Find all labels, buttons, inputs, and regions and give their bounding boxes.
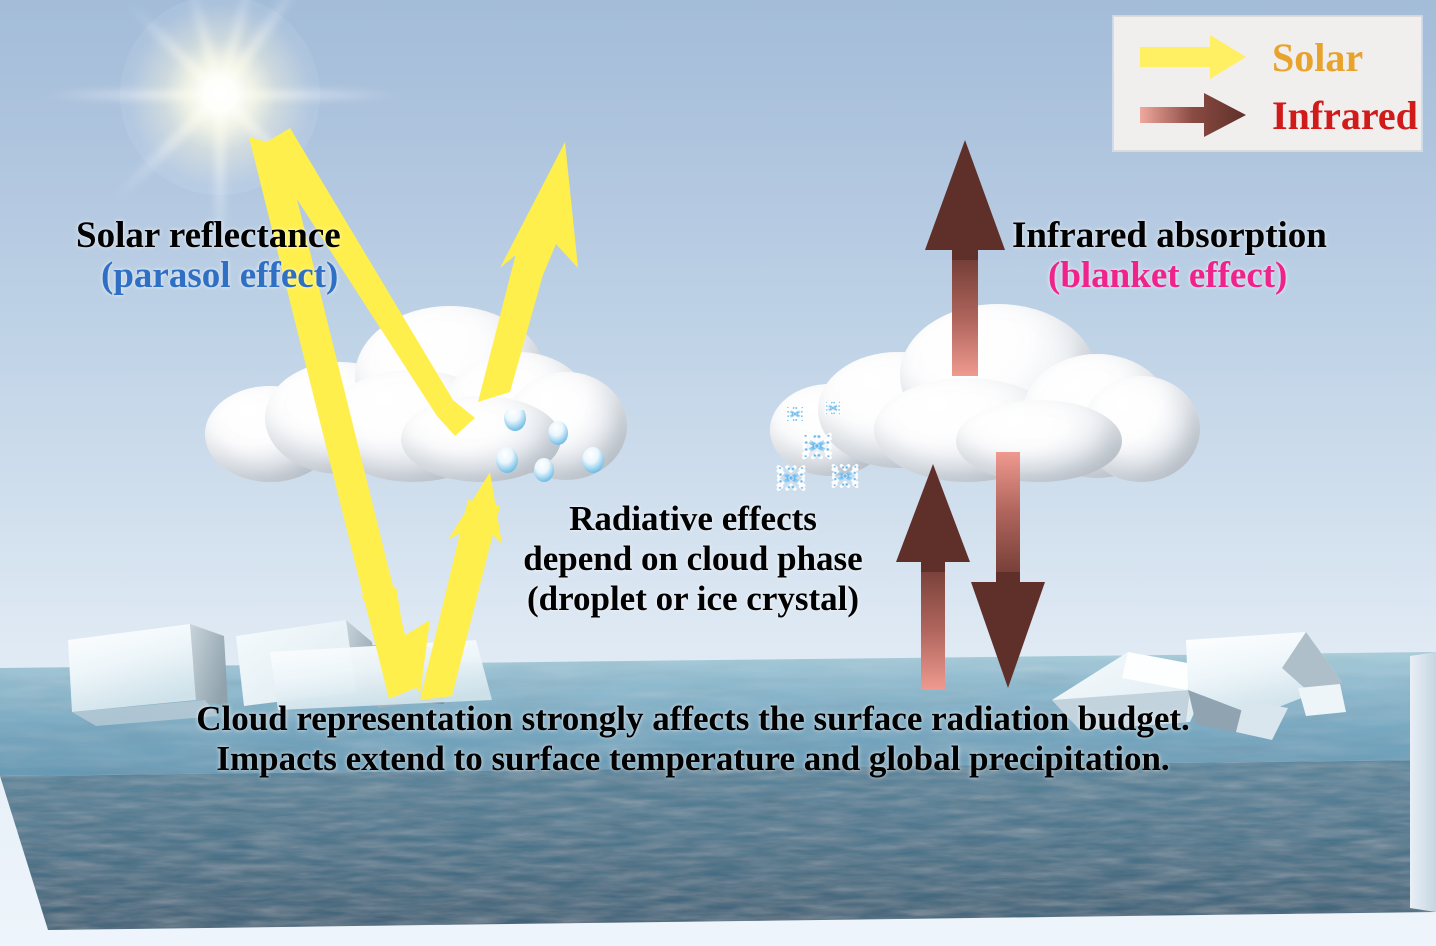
legend-item-solar: Solar [1138, 31, 1363, 83]
climate-diagram: Solar reflectance (parasol effect) Infra… [0, 0, 1436, 946]
infrared-absorption-title: Infrared absorption [1012, 216, 1327, 255]
blanket-effect-subtitle: (blanket effect) [1048, 256, 1287, 295]
center-note-line2: depend on cloud phase [475, 540, 911, 577]
legend-box: Solar Infrared [1113, 16, 1422, 151]
center-note-line1: Radiative effects [475, 500, 911, 537]
parasol-effect-subtitle: (parasol effect) [101, 256, 338, 295]
infrared-cloud-base-downward-arrow [971, 452, 1045, 688]
legend-item-infrared: Infrared [1138, 89, 1418, 141]
infrared-cloud-top-arrow [925, 140, 1005, 376]
solar-reflectance-title: Solar reflectance [76, 216, 341, 255]
caption-line1: Cloud representation strongly affects th… [48, 700, 1338, 737]
infrared-arrow-icon [1138, 89, 1248, 141]
solar-upward-arrow [478, 142, 578, 402]
caption-line2: Impacts extend to surface temperature an… [48, 740, 1338, 777]
legend-label-infrared: Infrared [1272, 92, 1418, 139]
solar-arrow-icon [1138, 31, 1248, 83]
legend-label-solar: Solar [1272, 34, 1363, 81]
center-note-line3: (droplet or ice crystal) [475, 580, 911, 617]
